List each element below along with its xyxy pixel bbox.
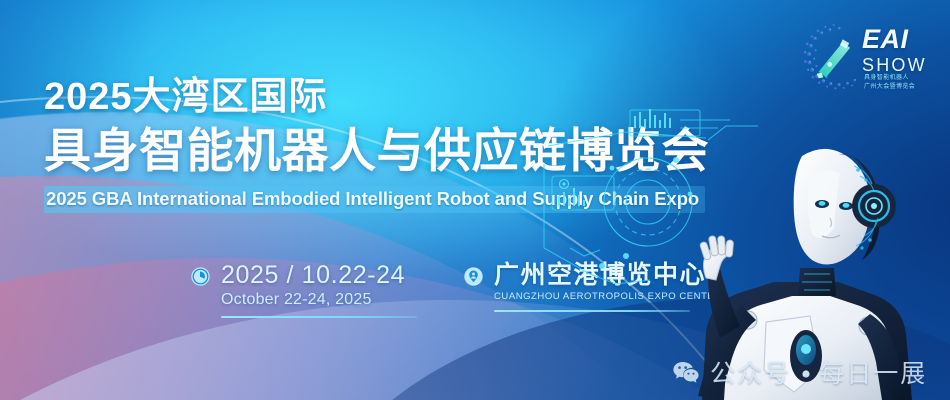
clock-icon <box>190 266 211 287</box>
logo-secondary-text: SHOW <box>862 56 927 74</box>
logo-cn-line1: 具身智能机器人 <box>864 74 915 83</box>
headline-line-2: 具身智能机器人与供应链博览会 <box>44 127 704 174</box>
logo-cn-line2: 广州大会暨博览会 <box>864 83 915 92</box>
headline-english-highlight: 2025 GBA International Embodied Intellig… <box>44 186 705 213</box>
event-venue-sub: CUANGZHOU AEROTROPOLIS EXPO CENTEF <box>494 288 721 306</box>
headline-block: 2025大湾区国际 具身智能机器人与供应链博览会 2025 GBA Intern… <box>44 78 704 213</box>
eai-show-logo[interactable]: EAI SHOW 具身智能机器人 广州大会暨博览会 <box>800 14 942 106</box>
logo-primary-text: EAI <box>862 26 927 53</box>
event-date-underline <box>221 316 417 318</box>
event-date-sub: October 22-24, 2025 <box>221 288 417 312</box>
event-date-block: 2025 / 10.22-24 October 22-24, 2025 <box>190 262 417 318</box>
watermark-text: 公众号 · 每日一展 <box>710 354 927 390</box>
location-pin-icon <box>463 266 484 287</box>
wechat-icon <box>672 360 700 385</box>
logo-chinese-subtitle: 具身智能机器人 广州大会暨博览会 <box>864 74 915 91</box>
event-venue-underline <box>494 310 690 312</box>
event-venue-block: 广州空港博览中心 CUANGZHOU AEROTROPOLIS EXPO CEN… <box>463 262 721 312</box>
headline-english: 2025 GBA International Embodied Intellig… <box>46 188 699 209</box>
headline-line-1: 2025大湾区国际 <box>44 78 704 116</box>
event-venue-main: 广州空港博览中心 <box>494 262 721 288</box>
event-date-text: 2025 / 10.22-24 October 22-24, 2025 <box>221 262 417 318</box>
event-info-row: 2025 / 10.22-24 October 22-24, 2025 广州空港… <box>190 262 721 318</box>
event-venue-text: 广州空港博览中心 CUANGZHOU AEROTROPOLIS EXPO CEN… <box>494 262 721 312</box>
logo-wordmark: EAI SHOW <box>862 26 927 74</box>
watermark: 公众号 · 每日一展 <box>672 354 927 390</box>
event-date-main: 2025 / 10.22-24 <box>221 262 417 288</box>
expo-banner: EAI SHOW 具身智能机器人 广州大会暨博览会 2025大湾区国际 具身智能… <box>0 0 950 400</box>
